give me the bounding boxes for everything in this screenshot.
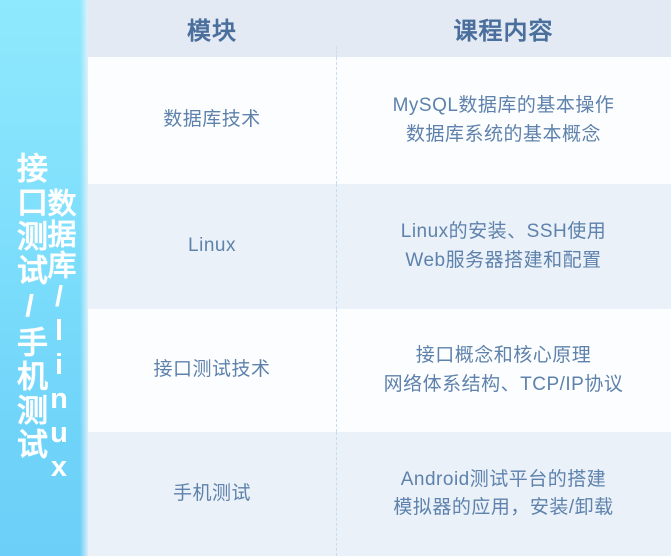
cell-module: Linux xyxy=(88,184,336,309)
cell-module: 数据库技术 xyxy=(88,57,336,184)
cell-content: 接口概念和核心原理 网络体系结构、TCP/IP协议 xyxy=(336,309,671,432)
content-line: Linux的安装、SSH使用 xyxy=(401,218,607,247)
cell-content-text: 接口概念和核心原理 网络体系结构、TCP/IP协议 xyxy=(384,342,624,399)
table-row: Linux Linux的安装、SSH使用 Web服务器搭建和配置 xyxy=(88,184,671,309)
course-table: 模块 课程内容 数据库技术 MySQL数据库的基本操作 数据库系统的基本概念 L… xyxy=(88,0,671,556)
row-column-divider xyxy=(336,432,337,556)
cell-content-text: Linux的安装、SSH使用 Web服务器搭建和配置 xyxy=(401,218,607,275)
banner-primary-label: 接口测试/手机测试 xyxy=(14,152,45,462)
content-line: 网络体系结构、TCP/IP协议 xyxy=(384,371,624,400)
cell-content: Linux的安装、SSH使用 Web服务器搭建和配置 xyxy=(336,184,671,309)
row-column-divider xyxy=(336,309,337,432)
course-module-table-page: 数据库/linux 接口测试/手机测试 模块 课程内容 数据库技术 MySQL数… xyxy=(0,0,671,556)
cell-module: 接口测试技术 xyxy=(88,309,336,432)
row-column-divider xyxy=(336,184,337,309)
content-line: Web服务器搭建和配置 xyxy=(401,247,607,276)
table-row: 接口测试技术 接口概念和核心原理 网络体系结构、TCP/IP协议 xyxy=(88,309,671,432)
cell-content-text: Android测试平台的搭建 模拟器的应用，安装/卸载 xyxy=(393,466,613,523)
content-line: 模拟器的应用，安装/卸载 xyxy=(393,494,613,523)
cell-content: MySQL数据库的基本操作 数据库系统的基本概念 xyxy=(336,57,671,184)
content-line: 接口概念和核心原理 xyxy=(384,342,624,371)
table-row: 手机测试 Android测试平台的搭建 模拟器的应用，安装/卸载 xyxy=(88,432,671,556)
banner-edge-fade xyxy=(80,0,88,556)
content-line: Android测试平台的搭建 xyxy=(393,466,613,495)
cell-module: 手机测试 xyxy=(88,432,336,556)
vertical-section-banner: 数据库/linux 接口测试/手机测试 xyxy=(0,0,88,556)
table-row: 数据库技术 MySQL数据库的基本操作 数据库系统的基本概念 xyxy=(88,57,671,184)
content-line: MySQL数据库的基本操作 xyxy=(393,92,615,121)
table-header-row: 模块 课程内容 xyxy=(88,0,671,57)
header-column-divider xyxy=(336,46,337,57)
content-line: 数据库系统的基本概念 xyxy=(393,121,615,150)
row-column-divider xyxy=(336,57,337,184)
cell-content: Android测试平台的搭建 模拟器的应用，安装/卸载 xyxy=(336,432,671,556)
cell-content-text: MySQL数据库的基本操作 数据库系统的基本概念 xyxy=(393,92,615,149)
column-header-content: 课程内容 xyxy=(336,0,671,57)
column-header-module: 模块 xyxy=(88,0,336,57)
banner-secondary-label: 数据库/linux xyxy=(44,188,73,485)
